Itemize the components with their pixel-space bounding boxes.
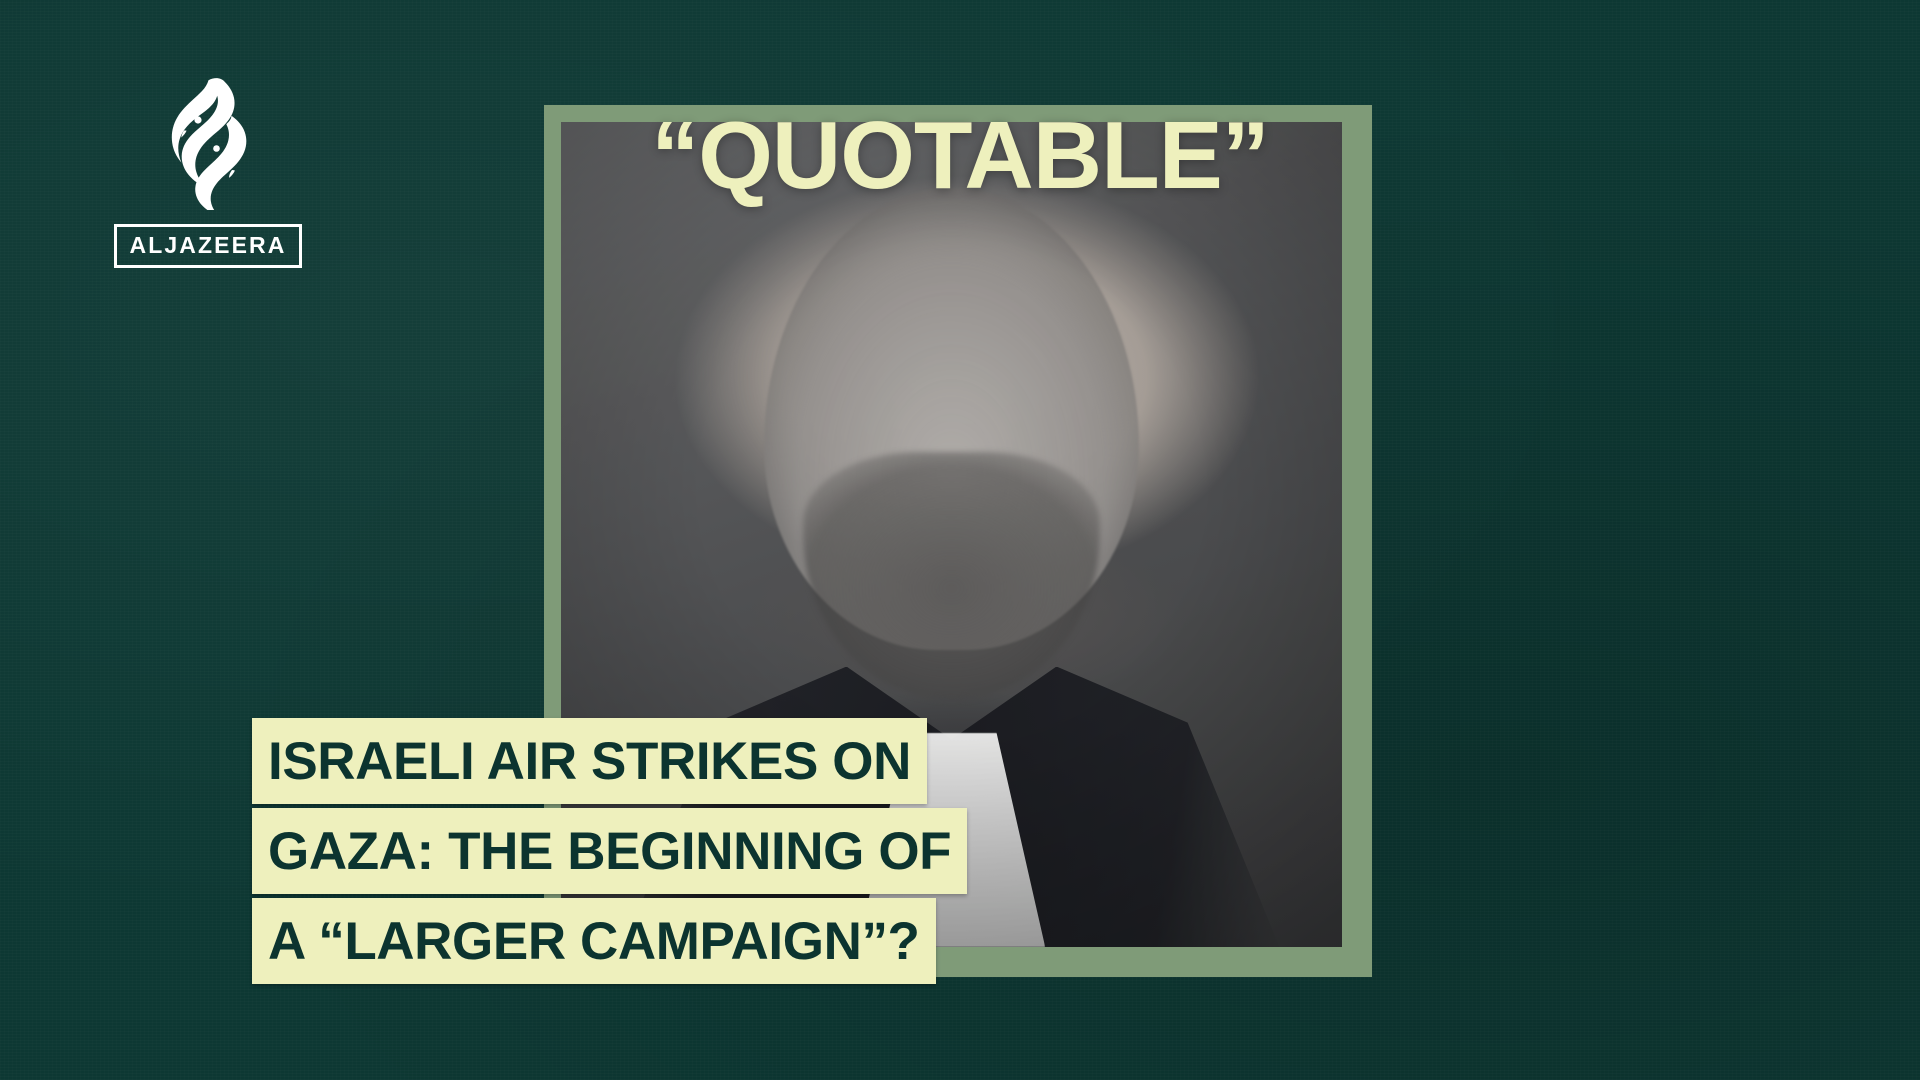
headline-line-1: ISRAELI AIR STRIKES ON (252, 718, 927, 804)
headline: ISRAELI AIR STRIKES ON GAZA: THE BEGINNI… (252, 718, 967, 988)
quote-card-graphic: ALJAZEERA “QUOTABLE” ISRAELI AIR STRIKES… (0, 0, 1920, 1080)
al-jazeera-wordmark-text: ALJAZEERA (130, 234, 287, 257)
al-jazeera-wordmark-box: ALJAZEERA (114, 224, 303, 268)
quotable-label: “QUOTABLE” (0, 108, 1920, 204)
headline-line-3: A “LARGER CAMPAIGN”? (252, 898, 936, 984)
portrait-beard (803, 452, 1100, 700)
headline-line-2: GAZA: THE BEGINNING OF (252, 808, 967, 894)
